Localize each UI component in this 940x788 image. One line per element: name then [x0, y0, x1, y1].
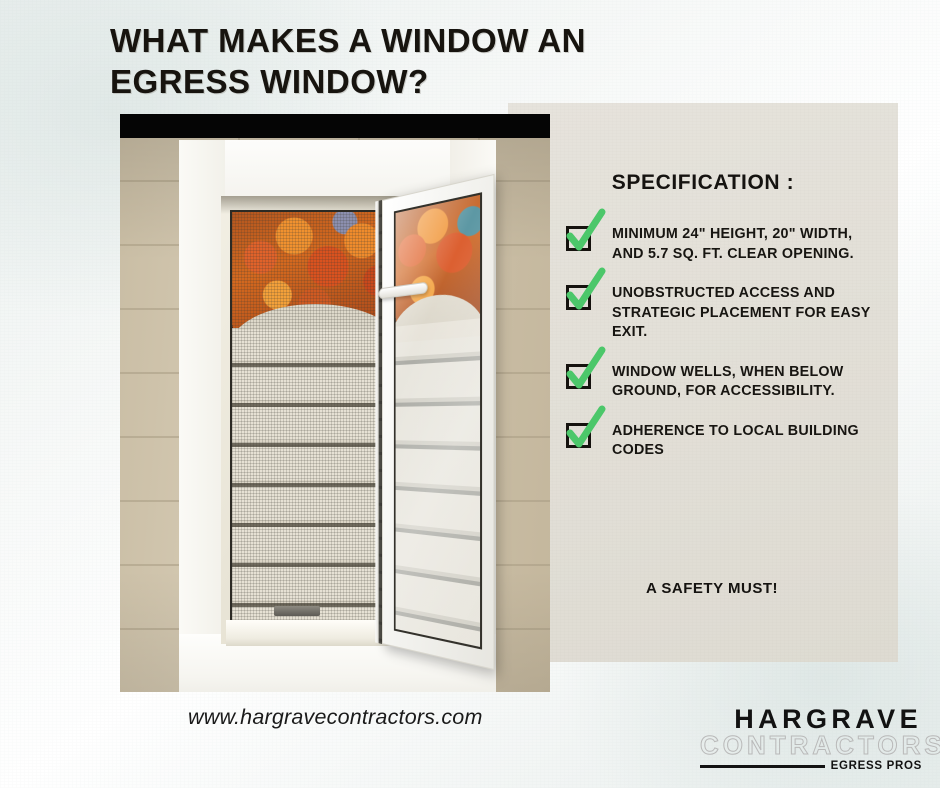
window-latch [274, 606, 320, 616]
green-checkmark-icon [566, 285, 591, 310]
specification-heading: SPECIFICATION : [508, 171, 898, 195]
logo-secondary-name: CONTRACTORS [700, 732, 922, 759]
green-checkmark-icon [566, 364, 591, 389]
green-checkmark-icon [566, 226, 591, 251]
insect-screen-mesh [232, 212, 393, 620]
egress-window-photo [120, 114, 550, 692]
closing-statement: A SAFETY MUST! [508, 580, 898, 597]
company-logo: HARGRAVE CONTRACTORS EGRESS PROS [700, 706, 922, 772]
open-casement-sash [382, 174, 494, 670]
page-title-line-2: EGRESS WINDOW? [110, 61, 750, 102]
logo-tagline: EGRESS PROS [831, 760, 922, 772]
list-item-label: UNOBSTRUCTED ACCESS AND STRATEGIC PLACEM… [612, 285, 870, 340]
list-item: MINIMUM 24" HEIGHT, 20" WIDTH, AND 5.7 S… [566, 225, 884, 264]
list-item: UNOBSTRUCTED ACCESS AND STRATEGIC PLACEM… [566, 284, 884, 343]
sash-glass-pane [394, 192, 482, 649]
list-item: WINDOW WELLS, WHEN BELOW GROUND, FOR ACC… [566, 363, 884, 402]
list-item-label: MINIMUM 24" HEIGHT, 20" WIDTH, AND 5.7 S… [612, 226, 854, 262]
logo-divider-rule [700, 765, 825, 768]
glass-sheen [396, 195, 480, 647]
window-trim-left [179, 140, 225, 692]
page-title-line-1: WHAT MAKES A WINDOW AN [110, 20, 750, 61]
window-screen-panel [230, 210, 395, 622]
logo-primary-name: HARGRAVE [700, 706, 922, 733]
green-checkmark-icon [566, 423, 591, 448]
specification-list: MINIMUM 24" HEIGHT, 20" WIDTH, AND 5.7 S… [566, 225, 884, 481]
specification-panel: SPECIFICATION : MINIMUM 24" HEIGHT, 20" … [508, 103, 898, 662]
list-item-label: ADHERENCE TO LOCAL BUILDING CODES [612, 423, 859, 459]
list-item-label: WINDOW WELLS, WHEN BELOW GROUND, FOR ACC… [612, 364, 844, 400]
list-item: ADHERENCE TO LOCAL BUILDING CODES [566, 422, 884, 461]
website-url[interactable]: www.hargravecontractors.com [188, 705, 483, 730]
page-title: WHAT MAKES A WINDOW AN EGRESS WINDOW? [110, 20, 750, 102]
